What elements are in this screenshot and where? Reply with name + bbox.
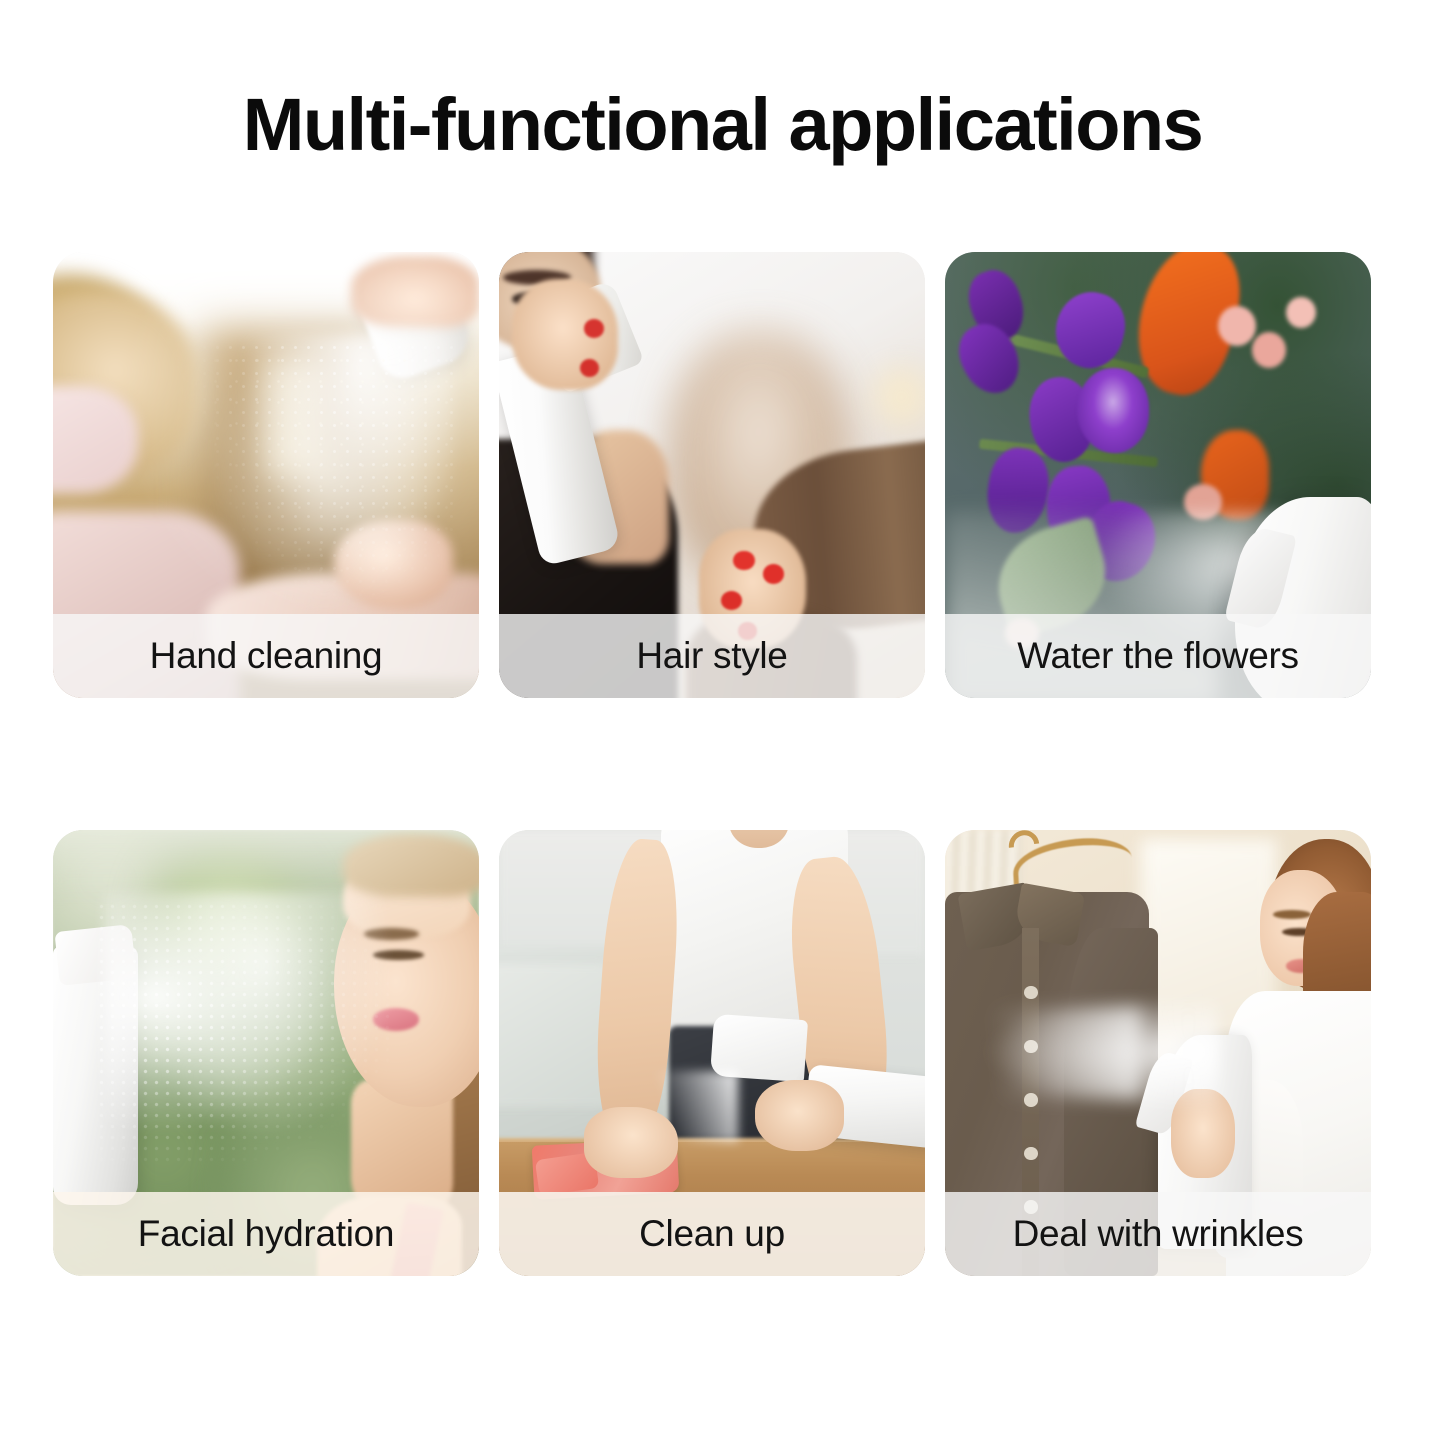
page-title: Multi-functional applications: [0, 88, 1445, 162]
infographic-page: Multi-functional applications: [0, 0, 1445, 1445]
application-tile-clean-up[interactable]: Clean up: [499, 830, 925, 1276]
application-tile-facial-hydration[interactable]: Facial hydration: [53, 830, 479, 1276]
application-grid: Hand cleaning: [53, 252, 1391, 1346]
caption-water-the-flowers: Water the flowers: [945, 614, 1371, 698]
application-tile-hand-cleaning[interactable]: Hand cleaning: [53, 252, 479, 698]
application-tile-hair-style[interactable]: Hair style: [499, 252, 925, 698]
caption-clean-up: Clean up: [499, 1192, 925, 1276]
caption-hand-cleaning: Hand cleaning: [53, 614, 479, 698]
application-tile-water-the-flowers[interactable]: Water the flowers: [945, 252, 1371, 698]
caption-deal-with-wrinkles: Deal with wrinkles: [945, 1192, 1371, 1276]
application-tile-deal-with-wrinkles[interactable]: Deal with wrinkles: [945, 830, 1371, 1276]
caption-facial-hydration: Facial hydration: [53, 1192, 479, 1276]
caption-hair-style: Hair style: [499, 614, 925, 698]
